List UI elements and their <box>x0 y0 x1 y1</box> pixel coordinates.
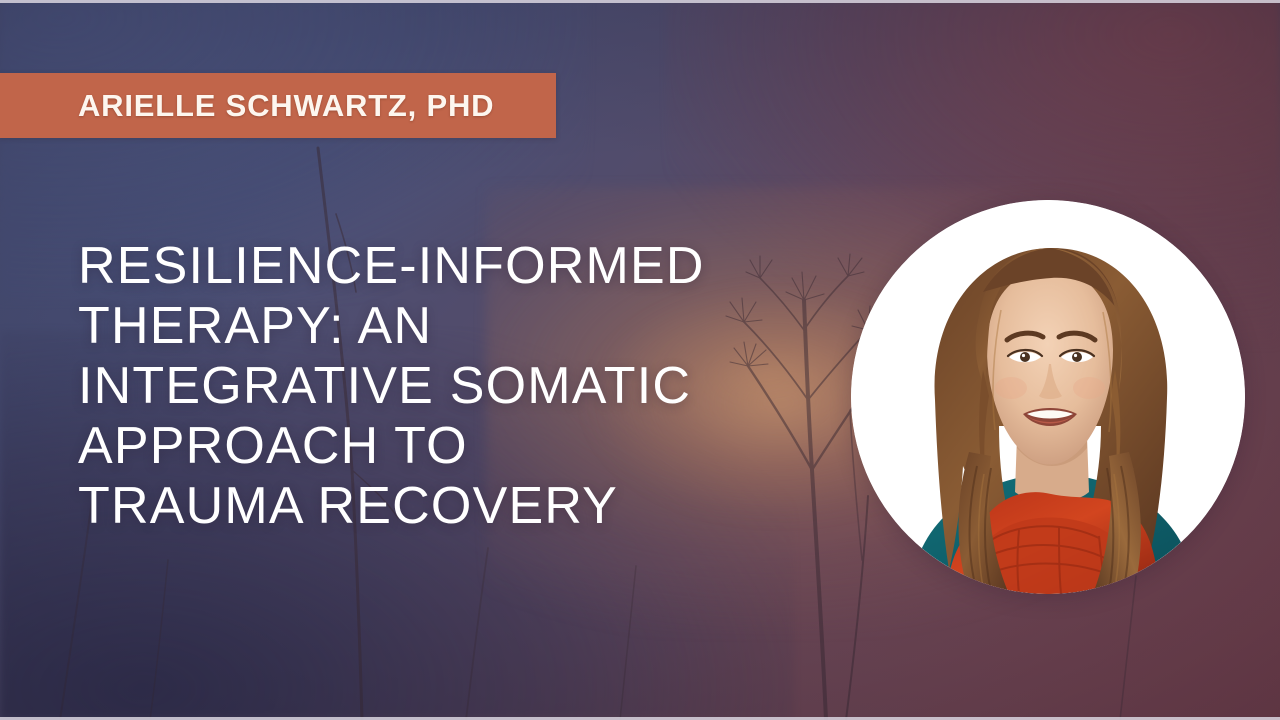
frame-top-edge <box>0 0 1280 3</box>
title-line-1: RESILIENCE-INFORMED <box>78 236 878 296</box>
presenter-portrait-photo <box>851 200 1245 594</box>
title-line-2: THERAPY: AN <box>78 296 878 356</box>
presentation-slide: ARIELLE SCHWARTZ, PHD RESILIENCE-INFORME… <box>0 0 1280 720</box>
title-line-3: INTEGRATIVE SOMATIC <box>78 356 878 416</box>
presenter-name-banner: ARIELLE SCHWARTZ, PHD <box>0 73 556 138</box>
title-line-4: APPROACH TO <box>78 416 878 476</box>
presenter-name-label: ARIELLE SCHWARTZ, PHD <box>78 88 494 124</box>
title-line-5: TRAUMA RECOVERY <box>78 476 878 536</box>
presenter-portrait <box>851 200 1245 594</box>
slide-title: RESILIENCE-INFORMED THERAPY: AN INTEGRAT… <box>78 236 878 536</box>
